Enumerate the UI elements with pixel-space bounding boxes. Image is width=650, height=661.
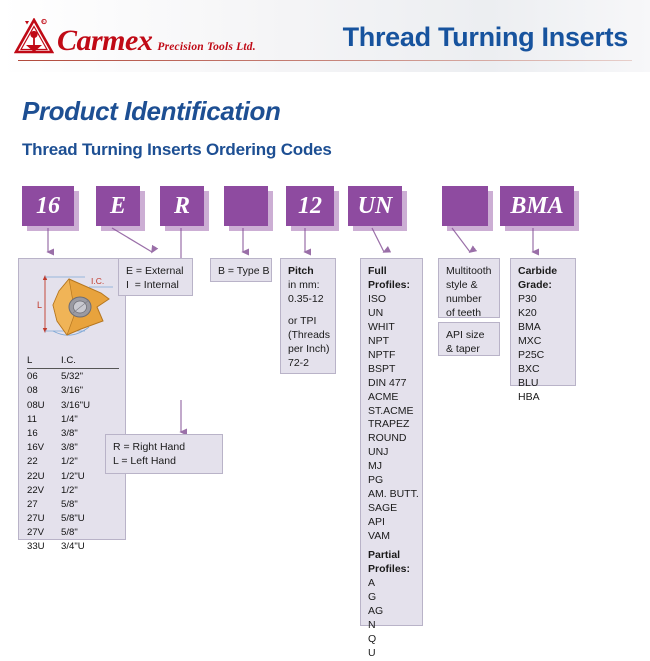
profiles-head-1: Full bbox=[368, 265, 415, 279]
table-row: 08U3/16"U bbox=[27, 399, 119, 413]
carbide-grade-item: P25C bbox=[518, 349, 568, 363]
pitch-line-7: 72-2 bbox=[288, 357, 328, 371]
profile-item: SAGE bbox=[368, 502, 415, 516]
carmex-logo: R Carmex Precision Tools Ltd. bbox=[14, 18, 256, 56]
profile-item: UNJ bbox=[368, 446, 415, 460]
code-box-profile[interactable]: UN bbox=[348, 186, 402, 226]
threading-insert-diagram-icon: L I.C. bbox=[23, 263, 121, 349]
profile-item: TRAPEZ bbox=[368, 418, 415, 432]
carbide-grade-item: P30 bbox=[518, 293, 568, 307]
profile-item: WHIT bbox=[368, 321, 415, 335]
partial-profile-item: AG bbox=[368, 605, 415, 619]
rl-line-2: L = Left Hand bbox=[113, 455, 215, 469]
lic-table-header: L I.C. bbox=[27, 354, 119, 370]
carbide-grade-item: K20 bbox=[518, 307, 568, 321]
insert-diagram-box: L I.C. L I.C. 065/32" 083/16" 08U3/16"U … bbox=[18, 258, 126, 540]
carmex-triangle-logo-icon: R bbox=[14, 18, 54, 56]
pitch-head: Pitch bbox=[288, 265, 328, 279]
logo-wordmark: Carmex bbox=[57, 26, 152, 56]
code-box-carbide[interactable]: BMA bbox=[500, 186, 574, 226]
table-row: 22V1/2" bbox=[27, 484, 119, 498]
partial-profile-item: G bbox=[368, 591, 415, 605]
multitooth-line-2: style & bbox=[446, 279, 492, 293]
svg-text:I.C.: I.C. bbox=[91, 276, 104, 286]
table-row: 27V5/8" bbox=[27, 526, 119, 540]
lic-l: 08U bbox=[27, 399, 61, 413]
profiles-head-4: Profiles: bbox=[368, 563, 415, 577]
box-carbide-grade: Carbide Grade: P30 K20 BMA MXC P25C BXC … bbox=[510, 258, 576, 386]
box-profiles: Full Profiles: ISO UN WHIT NPT NPTF BSPT… bbox=[360, 258, 423, 626]
lic-l: 22U bbox=[27, 470, 61, 484]
table-row: 27U5/8"U bbox=[27, 512, 119, 526]
pitch-line-2: 0.35-12 bbox=[288, 293, 328, 307]
carbide-head-1: Carbide bbox=[518, 265, 568, 279]
box-multitooth: Multitooth style & number of teeth bbox=[438, 258, 500, 318]
multitooth-line-3: number bbox=[446, 293, 492, 307]
lic-l: 16V bbox=[27, 441, 61, 455]
table-row: 065/32" bbox=[27, 370, 119, 384]
api-line-1: API size bbox=[446, 329, 492, 343]
table-row: 275/8" bbox=[27, 498, 119, 512]
ei-line-1: E = External bbox=[126, 265, 185, 279]
pitch-line-6: per Inch) bbox=[288, 343, 328, 357]
lic-l: 33U bbox=[27, 540, 61, 554]
box-pitch: Pitch in mm: 0.35-12 or TPI (Threads per… bbox=[280, 258, 336, 374]
table-row: 33U3/4"U bbox=[27, 540, 119, 554]
lic-l: 27V bbox=[27, 526, 61, 540]
profile-item: PG bbox=[368, 474, 415, 488]
box-api-size: API size & taper bbox=[438, 322, 500, 356]
profile-item: ACME bbox=[368, 391, 415, 405]
lic-ic: 5/8" bbox=[61, 498, 119, 512]
lic-ic: 3/4"U bbox=[61, 540, 119, 554]
code-box-type[interactable]: R bbox=[160, 186, 204, 226]
type-b-line: B = Type B bbox=[218, 265, 264, 279]
lic-l: 11 bbox=[27, 413, 61, 427]
lic-ic: 1/4" bbox=[61, 413, 119, 427]
header-divider bbox=[18, 60, 632, 61]
box-right-left-hand: R = Right Hand L = Left Hand bbox=[105, 434, 223, 474]
lic-l: 08 bbox=[27, 384, 61, 398]
lic-ic: 5/8" bbox=[61, 526, 119, 540]
page-title: Product Identification bbox=[22, 96, 280, 127]
profile-item: ST.ACME bbox=[368, 405, 415, 419]
carbide-grade-item: HBA bbox=[518, 391, 568, 405]
carbide-grade-item: BXC bbox=[518, 363, 568, 377]
profile-item: DIN 477 bbox=[368, 377, 415, 391]
profile-item: API bbox=[368, 516, 415, 530]
lic-l: 22V bbox=[27, 484, 61, 498]
lic-header-l: L bbox=[27, 354, 32, 368]
code-box-hand-ei[interactable]: E bbox=[96, 186, 140, 226]
lic-l: 27 bbox=[27, 498, 61, 512]
profiles-head-3: Partial bbox=[368, 549, 415, 563]
code-box-blank-1[interactable] bbox=[224, 186, 268, 226]
partial-profile-item: A bbox=[368, 577, 415, 591]
ei-line-2: I = Internal bbox=[126, 279, 185, 293]
carbide-grade-item: BLU bbox=[518, 377, 568, 391]
page-root: R Carmex Precision Tools Ltd. Thread Tur… bbox=[0, 0, 650, 650]
logo-tagline: Precision Tools Ltd. bbox=[157, 41, 255, 53]
lic-ic: 1/2" bbox=[61, 484, 119, 498]
lic-l: 06 bbox=[27, 370, 61, 384]
pitch-spacer bbox=[288, 307, 328, 315]
multitooth-line-4: of teeth bbox=[446, 307, 492, 321]
profile-item: NPTF bbox=[368, 349, 415, 363]
profile-item: ISO bbox=[368, 293, 415, 307]
code-box-pitch[interactable]: 12 bbox=[286, 186, 334, 226]
profile-item: MJ bbox=[368, 460, 415, 474]
profile-item: AM. BUTT. bbox=[368, 488, 415, 502]
partial-profile-item: U bbox=[368, 647, 415, 661]
header-title: Thread Turning Inserts bbox=[343, 22, 628, 53]
box-type-b: B = Type B bbox=[210, 258, 272, 282]
box-external-internal: E = External I = Internal bbox=[118, 258, 193, 296]
pitch-line-1: in mm: bbox=[288, 279, 328, 293]
carbide-grade-item: BMA bbox=[518, 321, 568, 335]
partial-profile-item: Q bbox=[368, 633, 415, 647]
page-header: R Carmex Precision Tools Ltd. Thread Tur… bbox=[0, 0, 650, 72]
rl-line-1: R = Right Hand bbox=[113, 441, 215, 455]
svg-text:L: L bbox=[37, 300, 42, 310]
code-box-blank-2[interactable] bbox=[442, 186, 488, 226]
lic-l: 16 bbox=[27, 427, 61, 441]
table-row: 111/4" bbox=[27, 413, 119, 427]
profiles-head-2: Profiles: bbox=[368, 279, 415, 293]
profile-item: UN bbox=[368, 307, 415, 321]
code-box-size[interactable]: 16 bbox=[22, 186, 74, 226]
lic-l: 22 bbox=[27, 455, 61, 469]
profile-item: BSPT bbox=[368, 363, 415, 377]
profile-item: ROUND bbox=[368, 432, 415, 446]
lic-ic: 3/16"U bbox=[61, 399, 119, 413]
page-subtitle: Thread Turning Inserts Ordering Codes bbox=[22, 140, 332, 160]
lic-l: 27U bbox=[27, 512, 61, 526]
profile-item: NPT bbox=[368, 335, 415, 349]
lic-ic: 5/8"U bbox=[61, 512, 119, 526]
table-row: 083/16" bbox=[27, 384, 119, 398]
lic-ic: 3/16" bbox=[61, 384, 119, 398]
partial-profile-item: N bbox=[368, 619, 415, 633]
pitch-line-4: or TPI bbox=[288, 315, 328, 329]
lic-ic: 5/32" bbox=[61, 370, 119, 384]
multitooth-line-1: Multitooth bbox=[446, 265, 492, 279]
profile-item: VAM bbox=[368, 530, 415, 544]
api-line-2: & taper bbox=[446, 343, 492, 357]
carbide-head-2: Grade: bbox=[518, 279, 568, 293]
lic-header-ic: I.C. bbox=[61, 354, 76, 368]
pitch-line-5: (Threads bbox=[288, 329, 328, 343]
carbide-grade-item: MXC bbox=[518, 335, 568, 349]
